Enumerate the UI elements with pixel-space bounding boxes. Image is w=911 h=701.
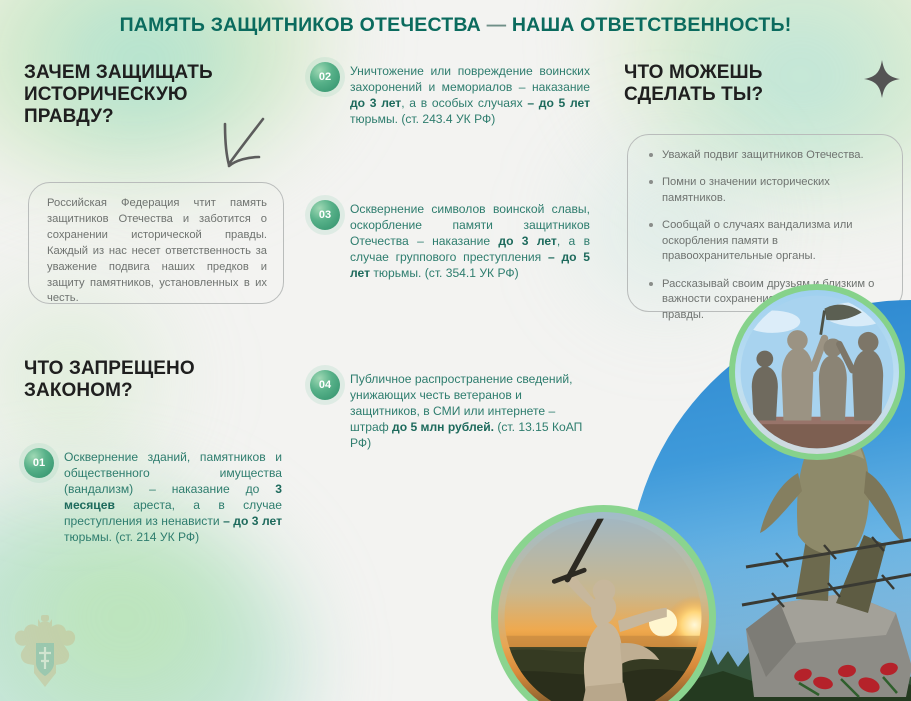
law-badge-02: 02: [310, 62, 340, 92]
section-heading-forbidden: ЧТО ЗАПРЕЩЕНО ЗАКОНОМ?: [24, 358, 264, 402]
action-bullet-item: Сообщай о случаях вандализма или оскорбл…: [646, 218, 888, 264]
double-headed-eagle-emblem-icon: [8, 615, 82, 689]
page-title-part1: ПАМЯТЬ ЗАЩИТНИКОВ ОТЕЧЕСТВА: [120, 14, 487, 36]
page-title: ПАМЯТЬ ЗАЩИТНИКОВ ОТЕЧЕСТВА — НАША ОТВЕТ…: [0, 14, 911, 37]
soldiers-group-monument-photo: [729, 284, 905, 460]
infographic-page: ПАМЯТЬ ЗАЩИТНИКОВ ОТЕЧЕСТВА — НАША ОТВЕТ…: [0, 0, 911, 701]
action-bullet-item: Уважай подвиг защитников Отечества.: [646, 148, 888, 163]
soldiers-group-figures: [735, 290, 899, 454]
page-title-dash: —: [487, 14, 507, 36]
law-text-04: Публичное распространение сведений, униж…: [350, 371, 590, 451]
law-badge-01: 01: [24, 448, 54, 478]
card-why-protect-truth: Российская Федерация чтит память защитни…: [28, 182, 284, 304]
sparkle-four-point-icon: [864, 60, 900, 98]
section-heading-what-you-can-do: ЧТО МОЖЕШЬ СДЕЛАТЬ ТЫ?: [624, 62, 854, 106]
card-what-you-can-do: Уважай подвиг защитников Отечества.Помни…: [627, 134, 903, 312]
law-text-01: Осквернение зданий, памятников и обществ…: [64, 449, 282, 545]
law-text-02: Уничтожение или повреждение воинских зах…: [350, 63, 590, 127]
law-text-03: Осквернение символов воинской славы, оск…: [350, 201, 590, 281]
action-bullet-item: Помни о значении исторических памятников…: [646, 175, 888, 206]
red-flowers: [785, 621, 905, 701]
card-why-body: Российская Федерация чтит память защитни…: [47, 196, 267, 307]
page-title-part2: НАША ОТВЕТСТВЕННОСТЬ!: [506, 14, 791, 36]
motherland-figure: [498, 512, 709, 701]
hand-drawn-arrow-down-left-icon: [203, 116, 269, 178]
law-badge-03: 03: [310, 200, 340, 230]
law-badge-04: 04: [310, 370, 340, 400]
